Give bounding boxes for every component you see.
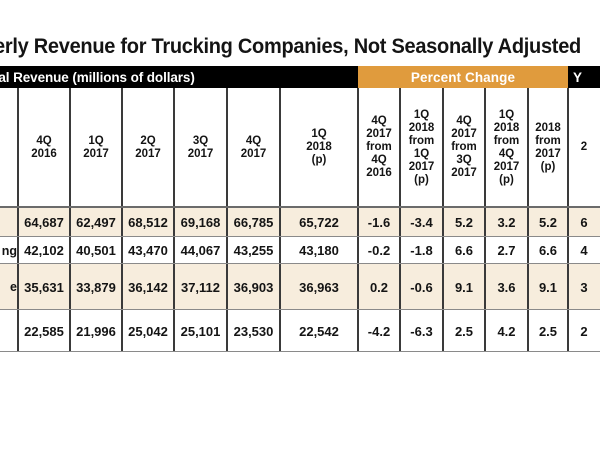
table-cell: 22,542 xyxy=(280,310,358,352)
header-line: 2016 xyxy=(366,167,392,180)
header-line: from xyxy=(535,135,561,148)
header-line: 2017 xyxy=(366,128,392,141)
column-header-revenue-2: 1Q2017 xyxy=(70,88,122,207)
column-divider xyxy=(17,88,18,352)
header-line: 4Q xyxy=(371,115,386,128)
band-year: Y xyxy=(568,66,600,88)
header-line: 4Q xyxy=(499,148,514,161)
row-divider xyxy=(0,263,600,264)
table-cell: 25,101 xyxy=(174,310,227,352)
row-divider xyxy=(0,206,600,207)
table-cell: 9.1 xyxy=(528,264,568,310)
header-line: 1Q xyxy=(88,135,103,148)
table-cell: -1.6 xyxy=(358,207,400,237)
column-divider xyxy=(527,88,528,352)
table-grid: 4Q20161Q20172Q20173Q20174Q20171Q2018(p)4… xyxy=(0,88,600,353)
band-year-label: Y xyxy=(568,70,582,85)
table-cell: -6.3 xyxy=(400,310,443,352)
table-cell: 9.1 xyxy=(443,264,485,310)
header-line: 2 xyxy=(581,141,587,154)
table-cell: -3.4 xyxy=(400,207,443,237)
header-line: 2017 xyxy=(451,128,477,141)
table-cell: 25,042 xyxy=(122,310,174,352)
table-cell: 40,501 xyxy=(70,237,122,264)
table-cell: 23,530 xyxy=(227,310,280,352)
header-line: 2018 xyxy=(494,122,520,135)
table-cell: 5.2 xyxy=(443,207,485,237)
header-line: 4Q xyxy=(456,115,471,128)
header-line: from xyxy=(409,135,435,148)
column-header-percent-2: 1Q2018from1Q2017(p) xyxy=(400,88,443,207)
column-divider xyxy=(279,88,280,352)
column-divider xyxy=(357,88,358,352)
table-cell: -4.2 xyxy=(358,310,400,352)
column-header-percent-4: 1Q2018from4Q2017(p) xyxy=(485,88,528,207)
table-cell: 36,963 xyxy=(280,264,358,310)
header-line: (p) xyxy=(499,174,514,187)
row-label: ng xyxy=(0,237,18,264)
table-cell: -0.2 xyxy=(358,237,400,264)
header-line: 2017 xyxy=(135,148,161,161)
table-cell: 3 xyxy=(568,264,600,310)
table-cell: 66,785 xyxy=(227,207,280,237)
column-header-revenue-6: 1Q2018(p) xyxy=(280,88,358,207)
column-header-revenue-4: 3Q2017 xyxy=(174,88,227,207)
table-cell: 2.7 xyxy=(485,237,528,264)
column-divider xyxy=(399,88,400,352)
table-cell: 22,585 xyxy=(18,310,70,352)
table-cell: 4.2 xyxy=(485,310,528,352)
table-cell: 37,112 xyxy=(174,264,227,310)
column-divider xyxy=(484,88,485,352)
column-header-year: 2 xyxy=(568,88,600,207)
header-line: (p) xyxy=(541,161,556,174)
header-line: 2017 xyxy=(188,148,214,161)
band-total-revenue: tal Revenue (millions of dollars) xyxy=(0,66,358,88)
table-cell: 0.2 xyxy=(358,264,400,310)
table-cell: 64,687 xyxy=(18,207,70,237)
band-percent-change: Percent Change xyxy=(358,66,568,88)
table-cell: 65,722 xyxy=(280,207,358,237)
header-line: 2017 xyxy=(83,148,109,161)
header-line: (p) xyxy=(312,154,327,167)
table-cell: 69,168 xyxy=(174,207,227,237)
header-line: from xyxy=(366,141,392,154)
header-line: 4Q xyxy=(371,154,386,167)
table-cell: 4 xyxy=(568,237,600,264)
table-cell: 5.2 xyxy=(528,207,568,237)
column-divider xyxy=(567,88,568,352)
page-title: erly Revenue for Trucking Companies, Not… xyxy=(0,33,563,59)
header-line: 4Q xyxy=(36,135,51,148)
column-divider xyxy=(226,88,227,352)
header-line: 3Q xyxy=(456,154,471,167)
header-line: 2017 xyxy=(241,148,267,161)
table-cell: 6.6 xyxy=(443,237,485,264)
screenshot-root: erly Revenue for Trucking Companies, Not… xyxy=(0,0,600,450)
table-cell: -0.6 xyxy=(400,264,443,310)
header-line: 2018 xyxy=(306,141,332,154)
row-divider xyxy=(0,309,600,310)
header-line: 1Q xyxy=(414,109,429,122)
data-table: tal Revenue (millions of dollars) Percen… xyxy=(0,66,600,353)
header-line: 2017 xyxy=(451,167,477,180)
table-cell: 6.6 xyxy=(528,237,568,264)
header-line: 2Q xyxy=(140,135,155,148)
column-divider xyxy=(173,88,174,352)
header-line: 1Q xyxy=(414,148,429,161)
table-cell: 3.6 xyxy=(485,264,528,310)
table-cell: 2.5 xyxy=(528,310,568,352)
header-line: 3Q xyxy=(193,135,208,148)
table-cell: 33,879 xyxy=(70,264,122,310)
header-line: 1Q xyxy=(311,128,326,141)
header-line: 2018 xyxy=(535,122,561,135)
table-cell: 21,996 xyxy=(70,310,122,352)
table-cell: -1.8 xyxy=(400,237,443,264)
column-header-revenue-5: 4Q2017 xyxy=(227,88,280,207)
table-cell: 62,497 xyxy=(70,207,122,237)
column-divider xyxy=(69,88,70,352)
header-line: 2017 xyxy=(494,161,520,174)
header-line: 2017 xyxy=(409,161,435,174)
table-cell: 2.5 xyxy=(443,310,485,352)
header-line: (p) xyxy=(414,174,429,187)
table-cell: 2 xyxy=(568,310,600,352)
band-percent-change-label: Percent Change xyxy=(411,70,515,85)
table-cell: 43,255 xyxy=(227,237,280,264)
header-line: from xyxy=(451,141,477,154)
table-cell: 44,067 xyxy=(174,237,227,264)
header-line: 2016 xyxy=(31,148,57,161)
table-cell: 36,903 xyxy=(227,264,280,310)
column-header-revenue-1: 4Q2016 xyxy=(18,88,70,207)
table-cell: 36,142 xyxy=(122,264,174,310)
row-divider xyxy=(0,236,600,237)
table-cell: 43,180 xyxy=(280,237,358,264)
column-divider xyxy=(442,88,443,352)
header-line: 2017 xyxy=(535,148,561,161)
column-header-percent-1: 4Q2017from4Q2016 xyxy=(358,88,400,207)
row-label xyxy=(0,310,18,352)
column-header-revenue-3: 2Q2017 xyxy=(122,88,174,207)
table-cell: 42,102 xyxy=(18,237,70,264)
header-line: 1Q xyxy=(499,109,514,122)
table-cell: 68,512 xyxy=(122,207,174,237)
row-divider xyxy=(0,351,600,352)
table-cell: 3.2 xyxy=(485,207,528,237)
row-label: e xyxy=(0,264,18,310)
header-line: 2018 xyxy=(409,122,435,135)
band-total-revenue-label: tal Revenue (millions of dollars) xyxy=(0,70,195,85)
column-divider xyxy=(121,88,122,352)
column-header-percent-5: 2018from2017(p) xyxy=(528,88,568,207)
table-cell: 6 xyxy=(568,207,600,237)
header-line: from xyxy=(494,135,520,148)
table-cell: 43,470 xyxy=(122,237,174,264)
table-cell: 35,631 xyxy=(18,264,70,310)
row-label xyxy=(0,207,18,237)
column-header-percent-3: 4Q2017from3Q2017 xyxy=(443,88,485,207)
header-line: 4Q xyxy=(246,135,261,148)
